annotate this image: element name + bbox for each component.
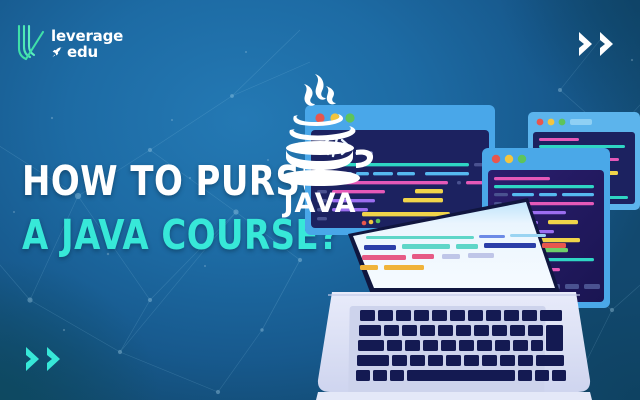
chevron-right-icon (577, 30, 595, 58)
logo-line2: edu (67, 45, 98, 60)
double-chevron-right-icon-top-right (577, 30, 616, 58)
rocket-icon (51, 46, 64, 59)
chevron-right-icon (45, 345, 63, 373)
logo-wordmark: leverage edu (51, 27, 123, 60)
logo-line2-row: edu (51, 45, 123, 60)
banner-root: leverage edu HOW TO PURSUE A JAVA COURSE… (0, 0, 640, 400)
java-label: JAVA (281, 188, 356, 219)
logo-line1: leverage (51, 29, 123, 44)
java-coding-illustration: JAVA (260, 60, 640, 400)
double-chevron-right-icon-bottom-left (24, 345, 63, 373)
chevron-right-icon (24, 345, 42, 373)
logo[interactable]: leverage edu (14, 22, 123, 64)
leverage-v-mark-icon (14, 22, 46, 64)
chevron-right-icon (598, 30, 616, 58)
